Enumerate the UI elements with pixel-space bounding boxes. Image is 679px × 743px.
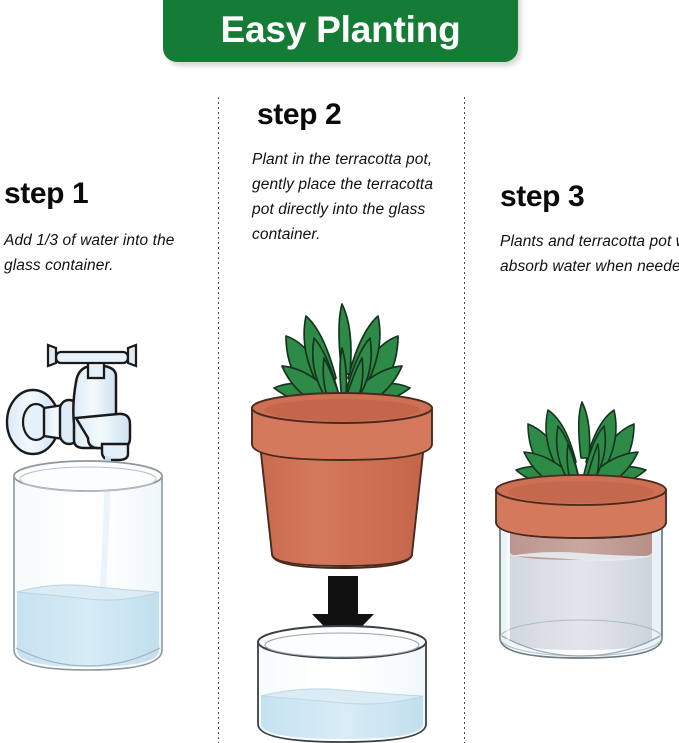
terracotta-pot-rim xyxy=(496,475,666,538)
infographic-canvas: Easy Planting step 1 Add 1/3 of water in… xyxy=(0,0,679,743)
step-2-body: Plant in the terracotta pot, gently plac… xyxy=(252,147,444,247)
faucet-group xyxy=(7,345,136,460)
step-3-heading: step 3 xyxy=(500,180,584,214)
step-1-illustration xyxy=(0,352,210,743)
step-3-column: step 3 Plants and terracotta pot will ab… xyxy=(464,0,679,743)
step-3-body: Plants and terracotta pot will absorb wa… xyxy=(500,229,679,279)
step-2-column: step 2 Plant in the terracotta pot, gent… xyxy=(218,0,464,743)
step-2-heading: step 2 xyxy=(257,98,341,132)
glass-container xyxy=(500,528,662,658)
step-3-illustration xyxy=(486,410,676,675)
step-1-body: Add 1/3 of water into the glass containe… xyxy=(4,228,204,278)
step-1-column: step 1 Add 1/3 of water into the glass c… xyxy=(0,0,218,743)
terracotta-pot xyxy=(252,393,432,568)
step-2-illustration xyxy=(236,292,451,743)
glass-container xyxy=(14,461,162,670)
step-1-heading: step 1 xyxy=(4,177,88,211)
glass-container xyxy=(258,626,426,742)
